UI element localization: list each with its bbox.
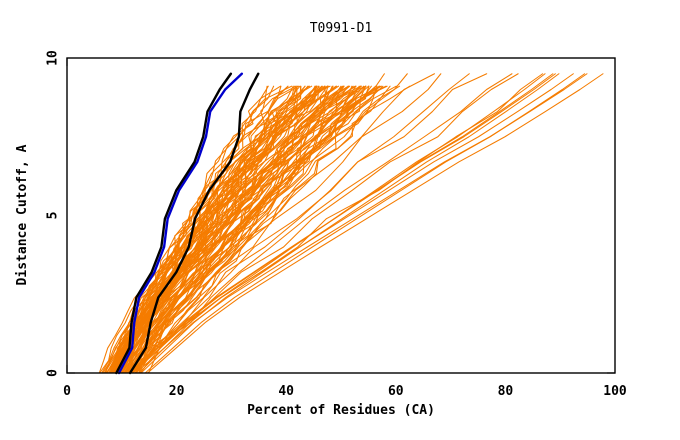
x-tick-label: 0 bbox=[63, 384, 71, 399]
y-tick-label: 0 bbox=[46, 369, 61, 377]
distance-cutoff-plot: T0991-D1 0204060801000510 Percent of Res… bbox=[0, 0, 680, 440]
plot-title: T0991-D1 bbox=[310, 21, 373, 36]
x-tick-label: 80 bbox=[498, 384, 514, 399]
y-axis-label: Distance Cutoff, A bbox=[15, 144, 30, 285]
x-axis-label: Percent of Residues (CA) bbox=[247, 403, 435, 418]
y-tick-label: 5 bbox=[46, 212, 61, 220]
plot-figure: T0991-D1 0204060801000510 Percent of Res… bbox=[0, 0, 680, 440]
x-tick-label: 60 bbox=[388, 384, 404, 399]
x-tick-label: 40 bbox=[278, 384, 294, 399]
x-tick-label: 100 bbox=[603, 384, 627, 399]
y-tick-label: 10 bbox=[46, 50, 61, 66]
x-tick-label: 20 bbox=[169, 384, 185, 399]
